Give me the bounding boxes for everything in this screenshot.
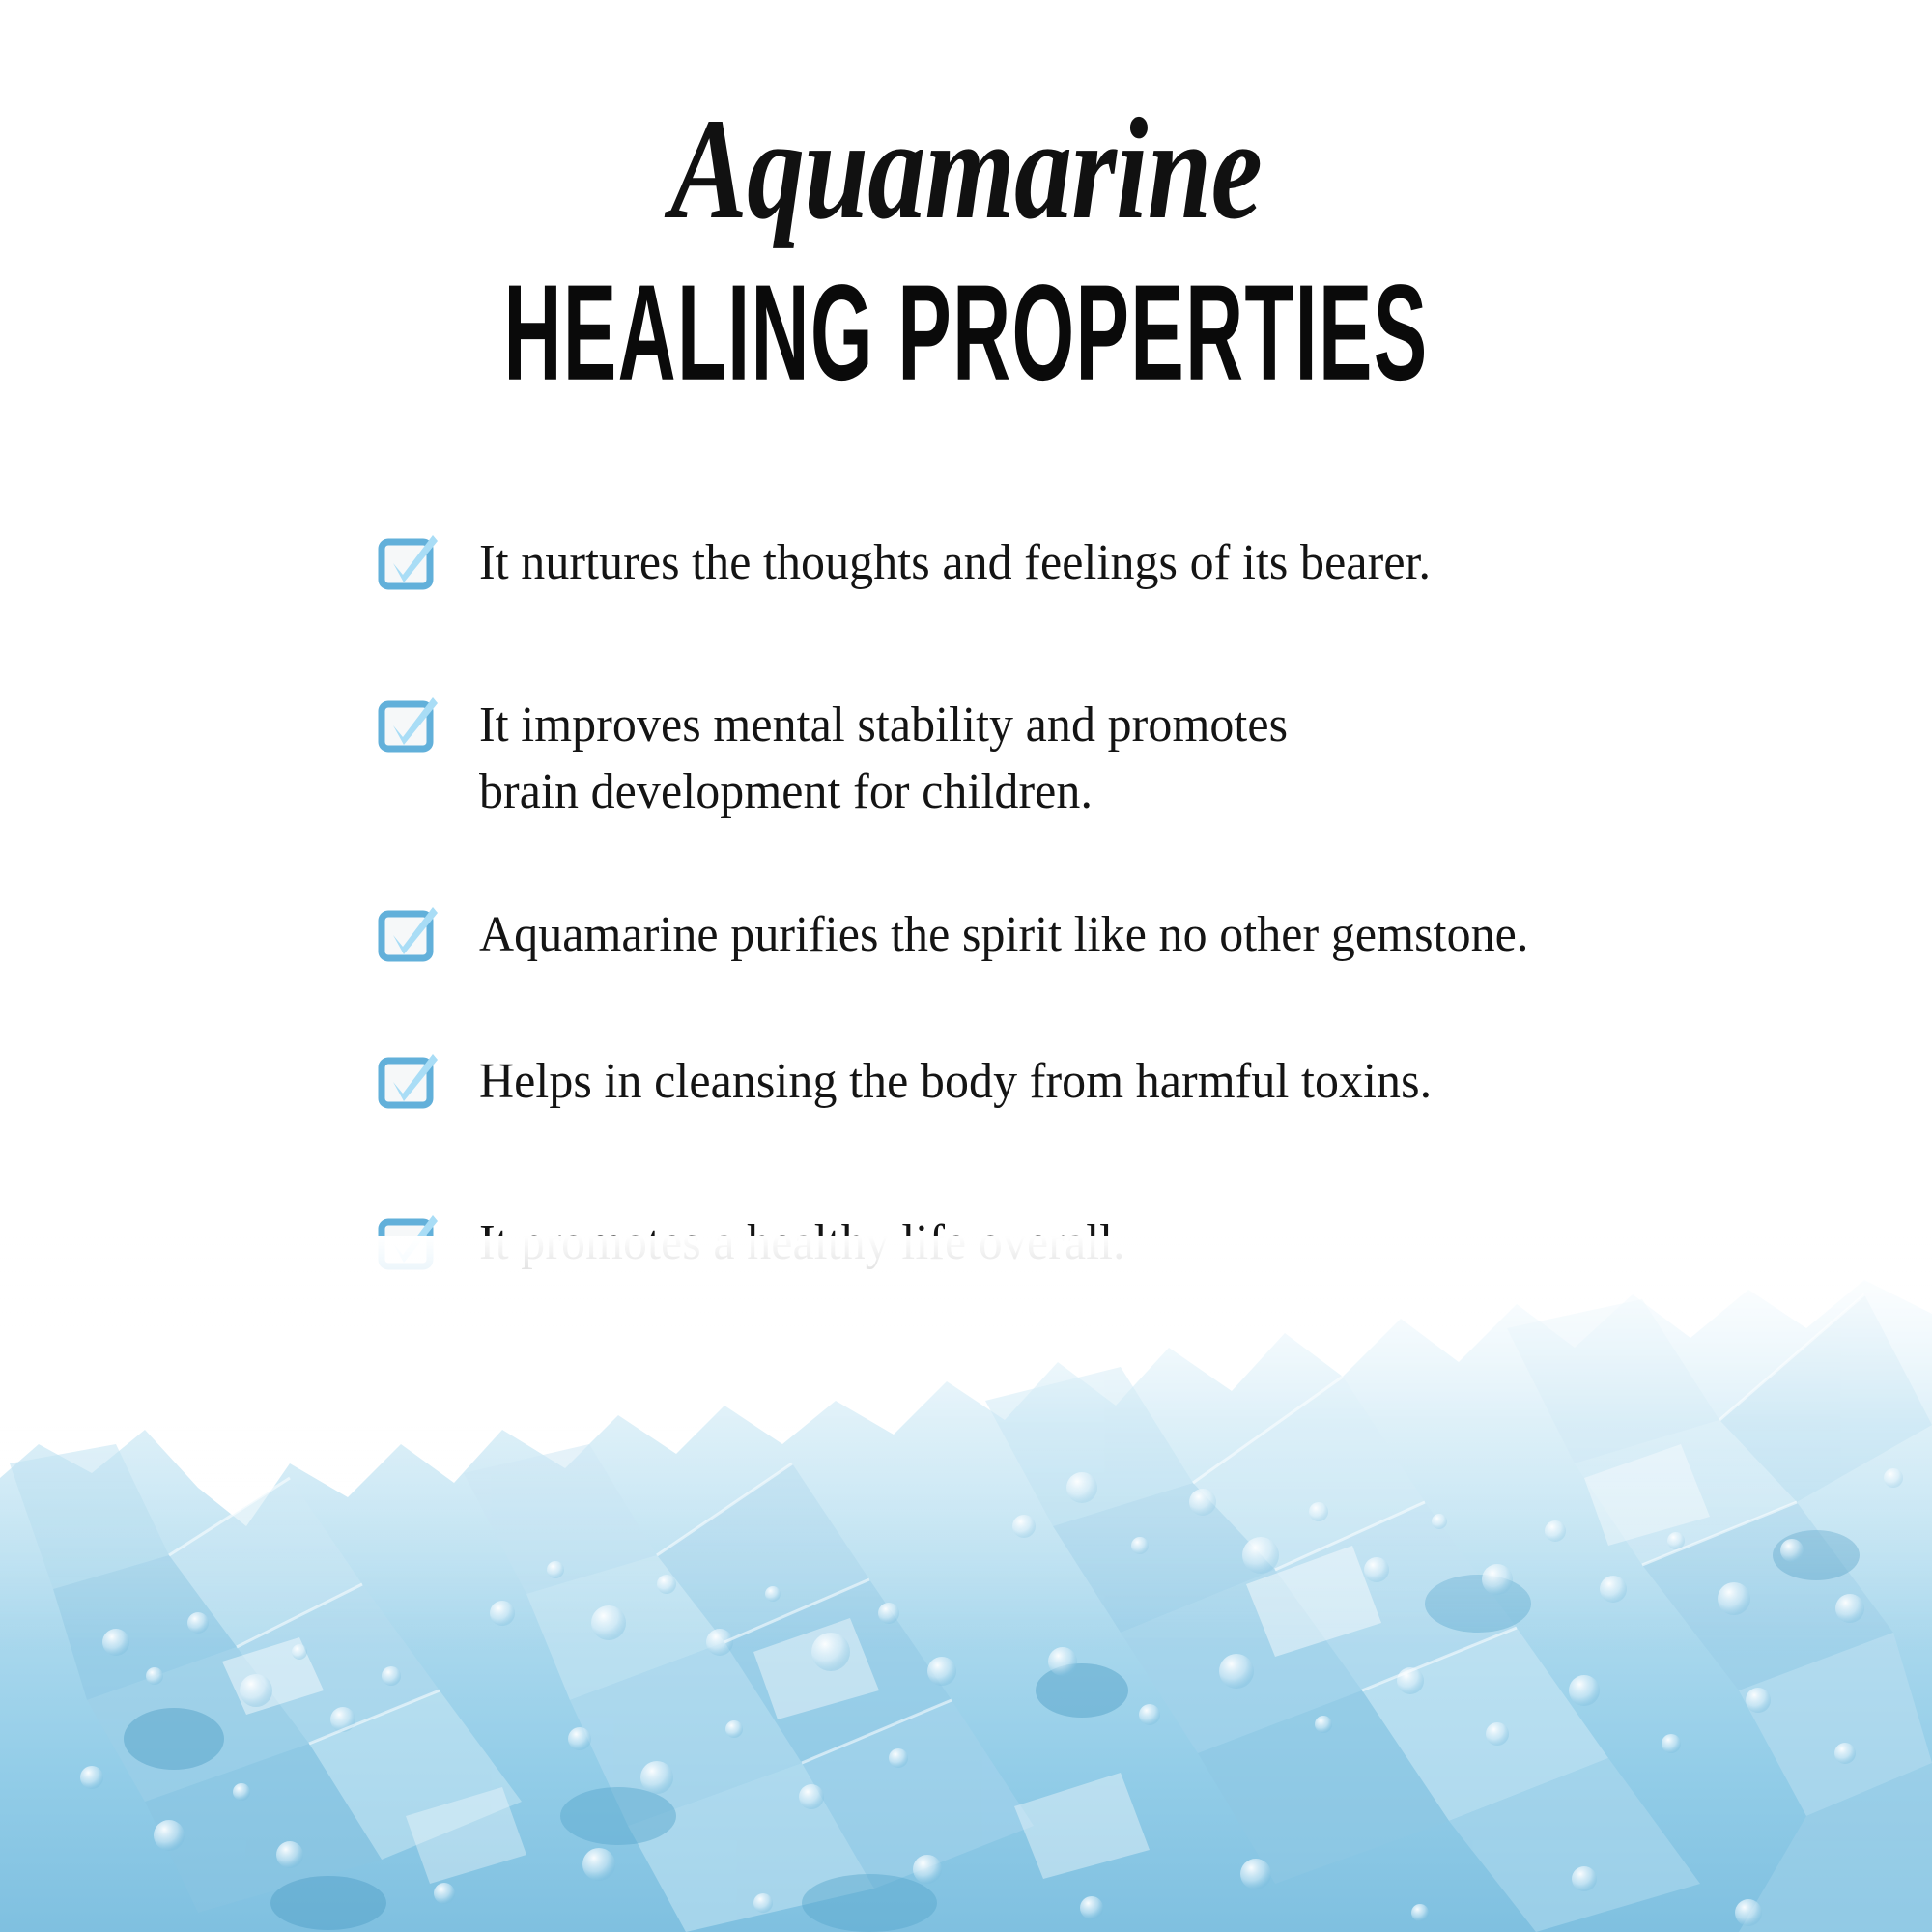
list-item: It improves mental stability and promote…	[379, 692, 1866, 826]
list-item-text: It promotes a healthy life overall.	[479, 1209, 1125, 1277]
list-item: Aquamarine purifies the spirit like no o…	[379, 901, 1866, 969]
list-item-text: It nurtures the thoughts and feelings of…	[479, 529, 1431, 597]
list-item: It nurtures the thoughts and feelings of…	[379, 529, 1866, 597]
list-item: Helps in cleansing the body from harmful…	[379, 1048, 1866, 1116]
checkbox-checked-icon	[379, 905, 439, 965]
page-title-script: Aquamarine	[193, 97, 1739, 241]
page-subtitle-block: HEALING PROPERTIES	[328, 265, 1604, 401]
checkbox-checked-icon	[379, 696, 439, 755]
list-item-text: Helps in cleansing the body from harmful…	[479, 1048, 1432, 1116]
checkbox-checked-icon	[379, 1052, 439, 1112]
ice-cubes-photo	[0, 1236, 1932, 1932]
header: Aquamarine HEALING PROPERTIES	[0, 97, 1932, 386]
checkbox-checked-icon	[379, 533, 439, 593]
healing-properties-list: It nurtures the thoughts and feelings of…	[379, 529, 1866, 1277]
list-item: It promotes a healthy life overall.	[379, 1209, 1866, 1277]
list-item-text: Aquamarine purifies the spirit like no o…	[479, 901, 1529, 969]
poster-canvas: Aquamarine HEALING PROPERTIES It nurture…	[0, 0, 1932, 1932]
checkbox-checked-icon	[379, 1213, 439, 1273]
list-item-text: It improves mental stability and promote…	[479, 692, 1288, 826]
